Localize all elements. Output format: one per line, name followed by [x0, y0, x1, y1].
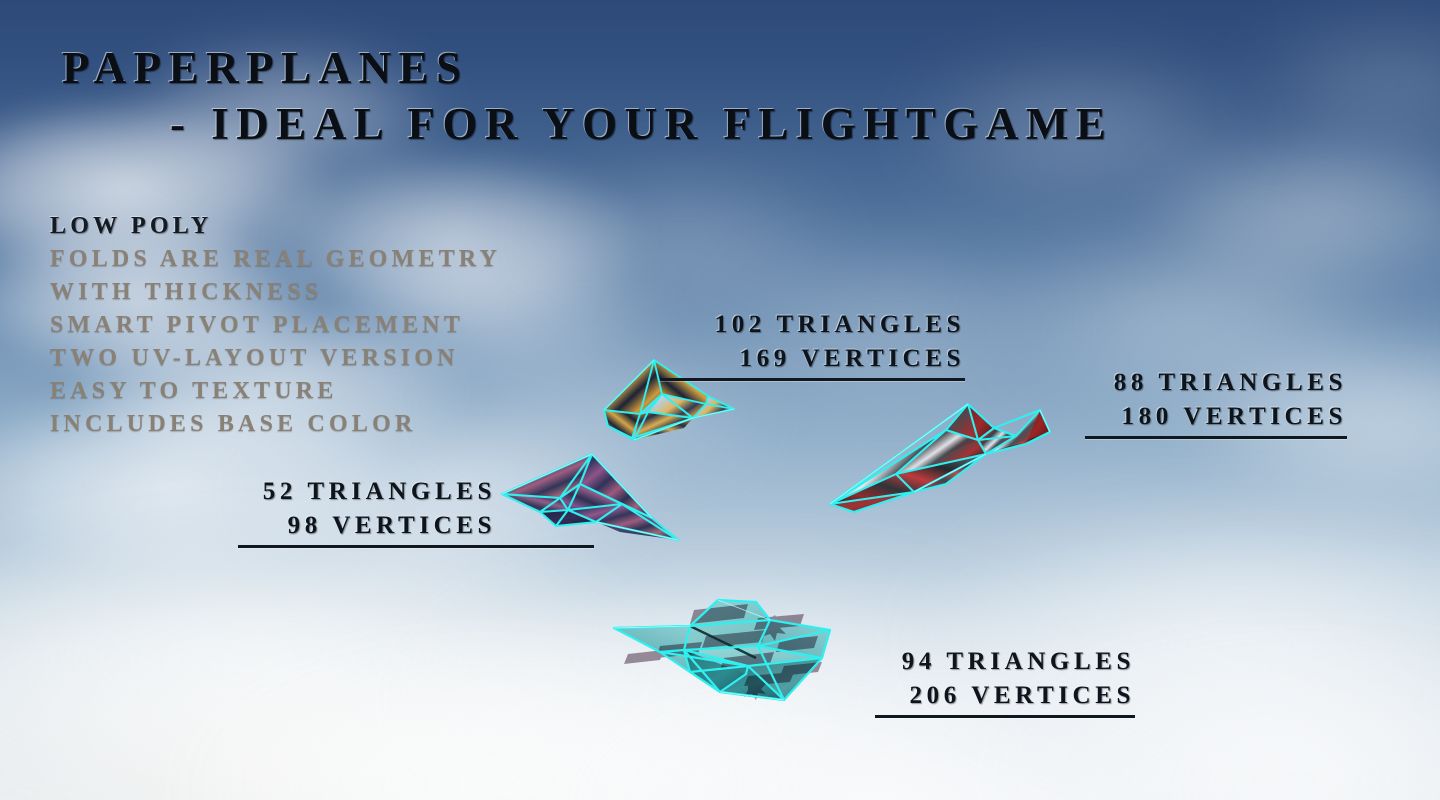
feature-item: Folds are real geometry: [50, 243, 501, 276]
stat-triangles: 88 Triangles: [1085, 366, 1347, 400]
stat-triangles: 102 Triangles: [655, 308, 965, 342]
stat-callout-red-dart: 88 Triangles 180 Vertices: [1085, 366, 1347, 439]
feature-item: Easy to texture: [50, 375, 501, 408]
model-teal-fighter: [598, 592, 843, 717]
stat-vertices: 180 Vertices: [1085, 400, 1347, 434]
title-line-secondary: - Ideal for your Flightgame: [62, 96, 1262, 152]
red-dart-geometry: [830, 404, 1050, 512]
page-title: Paperplanes - Ideal for your Flightgame: [62, 40, 1262, 152]
stat-vertices: 169 Vertices: [655, 342, 965, 376]
feature-list-heading: Low Poly: [50, 210, 501, 243]
stat-callout-gold-glider: 102 Triangles 169 Vertices: [655, 308, 965, 381]
stat-triangles: 94 Triangles: [875, 645, 1135, 679]
title-line-primary: Paperplanes: [62, 40, 1262, 96]
stat-callout-purple-delta: 52 Triangles 98 Vertices: [238, 475, 594, 548]
feature-list: Low Poly Folds are real geometry with th…: [50, 210, 501, 441]
stat-vertices: 98 Vertices: [238, 509, 594, 543]
feature-item: Includes base color: [50, 408, 501, 441]
stat-underline: [875, 715, 1135, 718]
stat-triangles: 52 Triangles: [238, 475, 594, 509]
stat-underline: [238, 545, 594, 548]
feature-item: Two UV-Layout version: [50, 342, 501, 375]
stat-callout-teal-fighter: 94 Triangles 206 Vertices: [875, 645, 1135, 718]
promo-poster: Paperplanes - Ideal for your Flightgame …: [0, 0, 1440, 800]
model-red-dart: [818, 388, 1058, 523]
feature-item: Smart pivot placement: [50, 309, 501, 342]
stat-vertices: 206 Vertices: [875, 679, 1135, 713]
teal-fighter-geometry: [598, 592, 843, 717]
stat-underline: [660, 378, 965, 381]
stat-underline: [1085, 436, 1347, 439]
feature-item: with thickness: [50, 276, 501, 309]
